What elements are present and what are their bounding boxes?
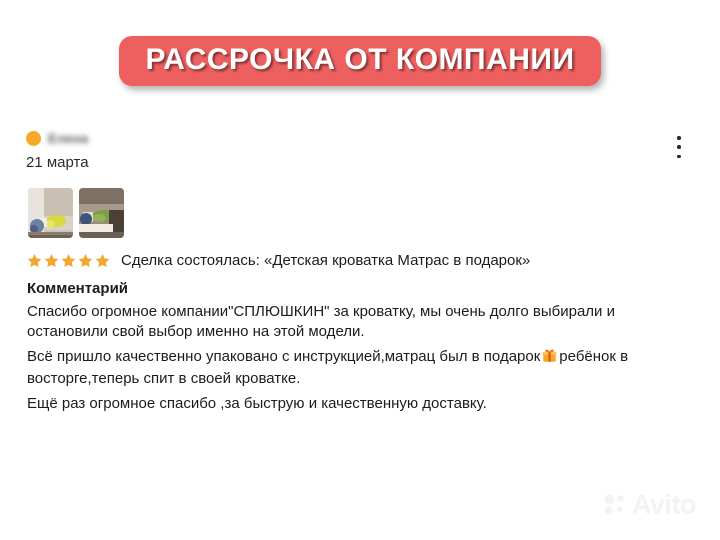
comment-paragraph: Ещё раз огромное спасибо ,за быструю и к… (27, 394, 695, 414)
star-icon (78, 253, 93, 268)
avito-watermark: Avito (602, 491, 696, 518)
promo-banner-container: РАССРОЧКА ОТ КОМПАНИИ (0, 30, 720, 92)
promo-banner-label: РАССРОЧКА ОТ КОМПАНИИ (145, 45, 574, 75)
star-icon (27, 253, 42, 268)
promo-banner: РАССРОЧКА ОТ КОМПАНИИ (119, 36, 600, 86)
reviewer-name[interactable]: Елена (48, 131, 89, 146)
kebab-dot-3 (677, 155, 681, 159)
comment-paragraph: Всё пришло качественно упаковано с инстр… (27, 347, 695, 389)
deal-row: Сделка состоялась: «Детская кроватка Мат… (0, 252, 720, 269)
star-icon (44, 253, 59, 268)
review-photo-thumbnail[interactable] (28, 188, 73, 238)
star-icon (61, 253, 76, 268)
comment-paragraph: Спасибо огромное компании"СПЛЮШКИН" за к… (27, 302, 695, 342)
crib-photo-1 (28, 188, 73, 238)
gift-icon (542, 348, 557, 369)
star-icon (95, 253, 110, 268)
avito-logo-icon (602, 492, 628, 518)
review-date: 21 марта (26, 154, 720, 171)
crib-photo-2 (79, 188, 124, 238)
avatar (26, 131, 41, 146)
reviewer-row: Елена (26, 128, 720, 148)
kebab-menu-icon[interactable] (672, 134, 686, 160)
review-header: Елена 21 марта (0, 128, 720, 180)
review-photo-strip (0, 188, 720, 238)
review-card: Елена 21 марта (0, 128, 720, 414)
kebab-dot-1 (677, 136, 681, 140)
review-photo-thumbnail[interactable] (79, 188, 124, 238)
rating-stars (27, 253, 110, 268)
deal-status-text: Сделка состоялась: «Детская кроватка Мат… (121, 252, 530, 269)
comment-block: Комментарий Спасибо огромное компании"СП… (0, 280, 720, 414)
kebab-dot-2 (677, 145, 681, 149)
comment-heading: Комментарий (27, 280, 698, 297)
avito-wordmark: Avito (632, 491, 696, 518)
comment-text-part: Всё пришло качественно упаковано с инстр… (27, 348, 540, 365)
